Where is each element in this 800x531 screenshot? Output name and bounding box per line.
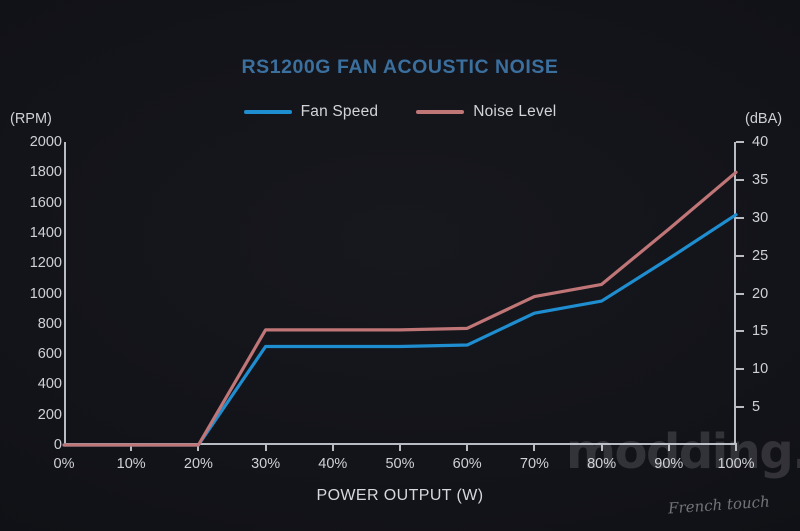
y-axis-left-unit: (RPM) — [10, 111, 52, 127]
x-tick-label: 20% — [163, 456, 233, 472]
x-tick-label: 10% — [96, 456, 166, 472]
y-tick-right-mark — [736, 255, 744, 257]
x-tick-label: 0% — [29, 456, 99, 472]
y-tick-left-label: 400 — [2, 376, 62, 392]
x-tick-label: 70% — [499, 456, 569, 472]
y-tick-right-mark — [736, 179, 744, 181]
y-tick-left-label: 200 — [2, 407, 62, 423]
page-title: RS1200G FAN ACOUSTIC NOISE — [0, 56, 800, 79]
y-tick-right-mark — [736, 330, 744, 332]
legend-item-fan-speed: Fan Speed — [244, 103, 379, 121]
x-tick-label: 100% — [701, 456, 771, 472]
y-tick-right-label: 35 — [752, 172, 798, 188]
x-axis-title: POWER OUTPUT (W) — [0, 487, 800, 505]
y-tick-left-label: 1200 — [2, 255, 62, 271]
series-lines — [64, 142, 736, 445]
y-tick-right-label: 30 — [752, 210, 798, 226]
y-tick-right-mark — [736, 368, 744, 370]
y-tick-left-label: 1800 — [2, 164, 62, 180]
y-tick-left-label: 1600 — [2, 195, 62, 211]
series-line-noise-level — [64, 172, 736, 445]
y-tick-left-label: 2000 — [2, 134, 62, 150]
y-tick-right-label: 10 — [752, 361, 798, 377]
y-axis-right-unit: (dBA) — [745, 111, 782, 127]
y-tick-left-label: 1400 — [2, 225, 62, 241]
y-tick-right-label: 20 — [752, 286, 798, 302]
x-tick-label: 60% — [432, 456, 502, 472]
y-tick-left-label: 800 — [2, 316, 62, 332]
y-tick-right-label: 5 — [752, 399, 798, 415]
legend-item-noise-level: Noise Level — [416, 103, 556, 121]
y-tick-left-label: 1000 — [2, 286, 62, 302]
chart-figure: RS1200G FAN ACOUSTIC NOISE Fan Speed Noi… — [0, 0, 800, 531]
y-tick-right-label: 40 — [752, 134, 798, 150]
y-tick-right-mark — [736, 293, 744, 295]
x-tick-label: 40% — [298, 456, 368, 472]
legend-swatch-fan-speed — [244, 110, 292, 114]
legend-swatch-noise-level — [416, 110, 464, 114]
y-tick-left-label: 600 — [2, 346, 62, 362]
legend-label-fan-speed: Fan Speed — [301, 103, 379, 121]
plot-area: 2000180016001400120010008006004002000 40… — [64, 142, 736, 445]
y-tick-right-mark — [736, 217, 744, 219]
y-tick-right-label: 25 — [752, 248, 798, 264]
y-tick-right-mark — [736, 406, 744, 408]
legend-label-noise-level: Noise Level — [473, 103, 556, 121]
y-tick-right-label: 15 — [752, 323, 798, 339]
y-tick-right-mark — [736, 141, 744, 143]
x-tick-label: 80% — [567, 456, 637, 472]
y-tick-left-label: 0 — [2, 437, 62, 453]
x-tick-label: 50% — [365, 456, 435, 472]
chart-legend: Fan Speed Noise Level — [0, 103, 800, 121]
x-tick-label: 30% — [231, 456, 301, 472]
x-tick-label: 90% — [634, 456, 704, 472]
